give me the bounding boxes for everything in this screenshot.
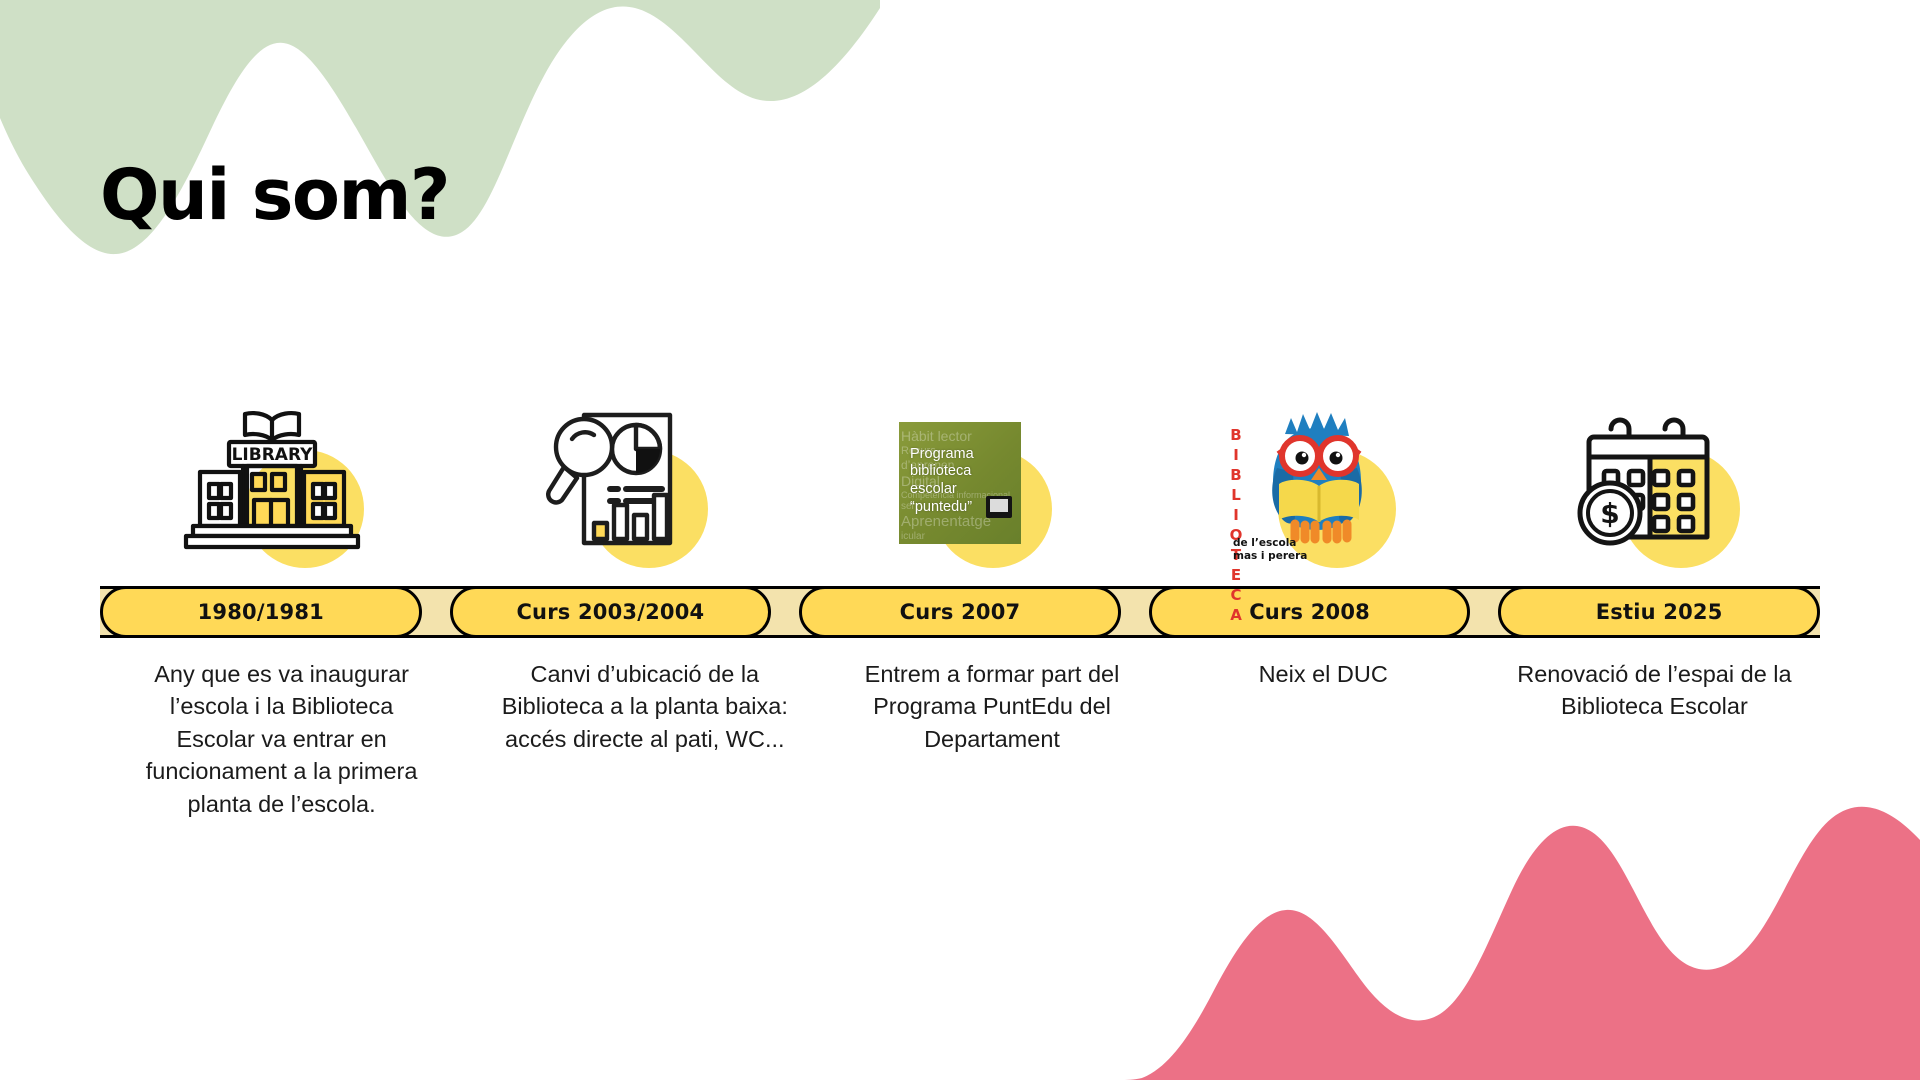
timeline-icon-row: LIBRARY <box>100 380 1820 570</box>
puntedu-title: Programabibliotecaescolar“puntedu” <box>910 446 974 517</box>
timeline-caption: Canvi d’ubicació de la Biblioteca a la p… <box>463 658 826 820</box>
timeline-badge[interactable]: Curs 2003/2004 <box>450 586 772 638</box>
owl-subtitle: de l’escola mas i perera <box>1233 537 1307 563</box>
timeline-badge[interactable]: 1980/1981 <box>100 586 422 638</box>
timeline-badge[interactable]: Curs 2007 <box>799 586 1121 638</box>
report-analysis-icon <box>536 407 696 559</box>
timeline-caption: Renovació de l’espai de la Biblioteca Es… <box>1489 658 1820 820</box>
timeline-icon-cell <box>444 380 788 570</box>
timeline-badge[interactable]: Curs 2008 <box>1149 586 1471 638</box>
slide-canvas: Qui som? <box>0 0 1920 1080</box>
timeline-icon-cell: LIBRARY <box>100 380 444 570</box>
timeline-caption: Any que es va inaugurar l’escola i la Bi… <box>100 658 463 820</box>
page-title: Qui som? <box>100 160 449 230</box>
timeline-caption: Neix el DUC <box>1158 658 1489 820</box>
timeline-caption-row: Any que es va inaugurar l’escola i la Bi… <box>100 658 1820 820</box>
timeline-icon-cell: $ <box>1476 380 1820 570</box>
puntedu-logo-icon: Hàbit lector Recurs d’aprenen Digital Co… <box>899 422 1021 544</box>
timeline-badge[interactable]: Estiu 2025 <box>1498 586 1820 638</box>
owl-library-logo-icon: BIBLIOTECA <box>1229 398 1379 568</box>
svg-text:$: $ <box>1600 497 1619 530</box>
timeline-icon-cell: BIBLIOTECA <box>1132 380 1476 570</box>
owl-wordmark: BIBLIOTECA <box>1227 426 1245 626</box>
library-sign-text: LIBRARY <box>232 445 314 465</box>
timeline-icon-cell: Hàbit lector Recurs d’aprenen Digital Co… <box>788 380 1132 570</box>
pink-wave-blob <box>1120 780 1920 1080</box>
owl-subtitle-line2: mas i perera <box>1233 550 1307 562</box>
timeline-caption: Entrem a formar part del Programa PuntEd… <box>826 658 1157 820</box>
library-building-icon: LIBRARY <box>183 408 361 558</box>
owl-subtitle-line1: de l’escola <box>1233 537 1296 549</box>
timeline-badge-bar: 1980/1981 Curs 2003/2004 Curs 2007 Curs … <box>100 586 1820 638</box>
timeline: LIBRARY <box>100 380 1820 820</box>
puntedu-book-mark <box>986 496 1012 518</box>
calendar-coin-icon: $ <box>1567 413 1729 553</box>
